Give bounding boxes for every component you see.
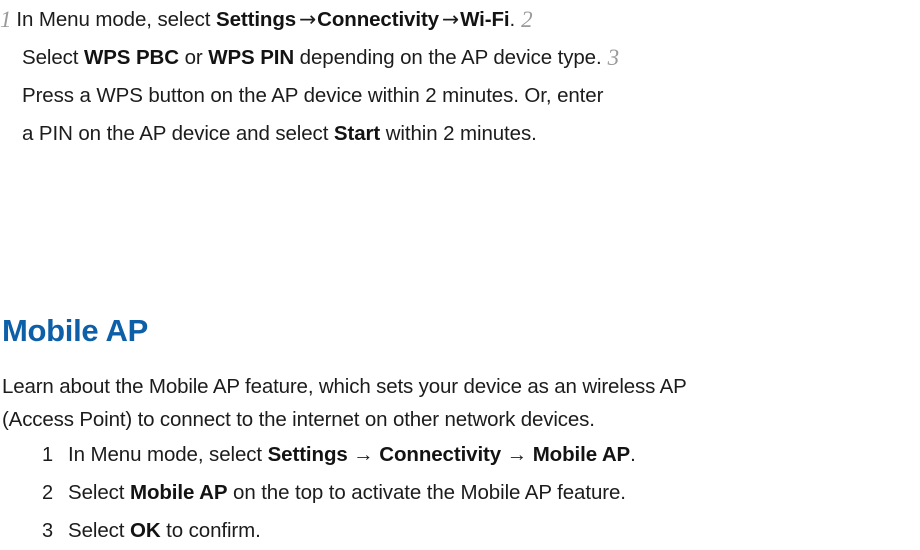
body-text-run: Select [22,46,84,69]
procedure-step-number: 1 [0,7,16,32]
body-text-run: → [501,443,533,466]
body-text-run: a PIN on the AP device and select [22,122,334,145]
procedure-line: 1In Menu mode, select Settings→Connectiv… [0,0,920,39]
arrow-icon: → [439,7,460,31]
ui-term-emphasis: Connectivity [379,443,501,466]
page-section-heading: Mobile AP [2,312,148,350]
step-number: 1 [42,437,68,474]
procedure-step-number: 2 [515,7,532,32]
body-text-run: Select [68,481,130,504]
list-item: 1In Menu mode, select Settings → Connect… [42,436,920,474]
body-text-run: Press a WPS button on the AP device with… [22,84,603,107]
ui-term-emphasis: Settings [216,8,296,31]
list-item: 2Select Mobile AP on the top to activate… [42,474,920,512]
procedure-line: a PIN on the AP device and select Start … [0,115,920,153]
body-text-run: depending on the AP device type. [294,46,601,69]
arrow-icon: → [296,7,317,31]
body-text-run: or [179,46,208,69]
procedure-step-number: 3 [602,45,619,70]
section-intro-paragraph: Learn about the Mobile AP feature, which… [2,370,920,436]
intro-line: (Access Point) to connect to the interne… [2,403,920,436]
ui-term-emphasis: Mobile AP [533,443,630,466]
intro-line: Learn about the Mobile AP feature, which… [2,370,920,403]
ui-term-emphasis: Wi-Fi [460,8,509,31]
list-item: 3Select OK to confirm. [42,512,920,550]
body-text-run: Select [68,519,130,542]
ui-term-emphasis: Connectivity [317,8,439,31]
body-text-run: within 2 minutes. [380,122,537,145]
ui-term-emphasis: Mobile AP [130,481,227,504]
body-text-run: In Menu mode, select [16,8,216,31]
procedure-line: Select WPS PBC or WPS PIN depending on t… [0,39,920,77]
step-text: Select OK to confirm. [68,512,261,549]
ui-term-emphasis: Settings [268,443,348,466]
ui-term-emphasis: Start [334,122,380,145]
body-text-run: → [348,443,380,466]
body-text-run: on the top to activate the Mobile AP fea… [227,481,625,504]
continued-procedure-block: 1In Menu mode, select Settings→Connectiv… [0,0,920,153]
body-text-run: . [630,443,636,466]
body-text-run: In Menu mode, select [68,443,268,466]
step-number: 2 [42,475,68,512]
mobile-ap-step-list: 1In Menu mode, select Settings → Connect… [2,436,920,550]
ui-term-emphasis: WPS PBC [84,46,179,69]
ui-term-emphasis: OK [130,519,161,542]
step-text: In Menu mode, select Settings → Connecti… [68,436,636,473]
body-text-run: to confirm. [161,519,261,542]
procedure-line: Press a WPS button on the AP device with… [0,77,920,115]
ui-term-emphasis: WPS PIN [208,46,294,69]
step-text: Select Mobile AP on the top to activate … [68,474,626,511]
